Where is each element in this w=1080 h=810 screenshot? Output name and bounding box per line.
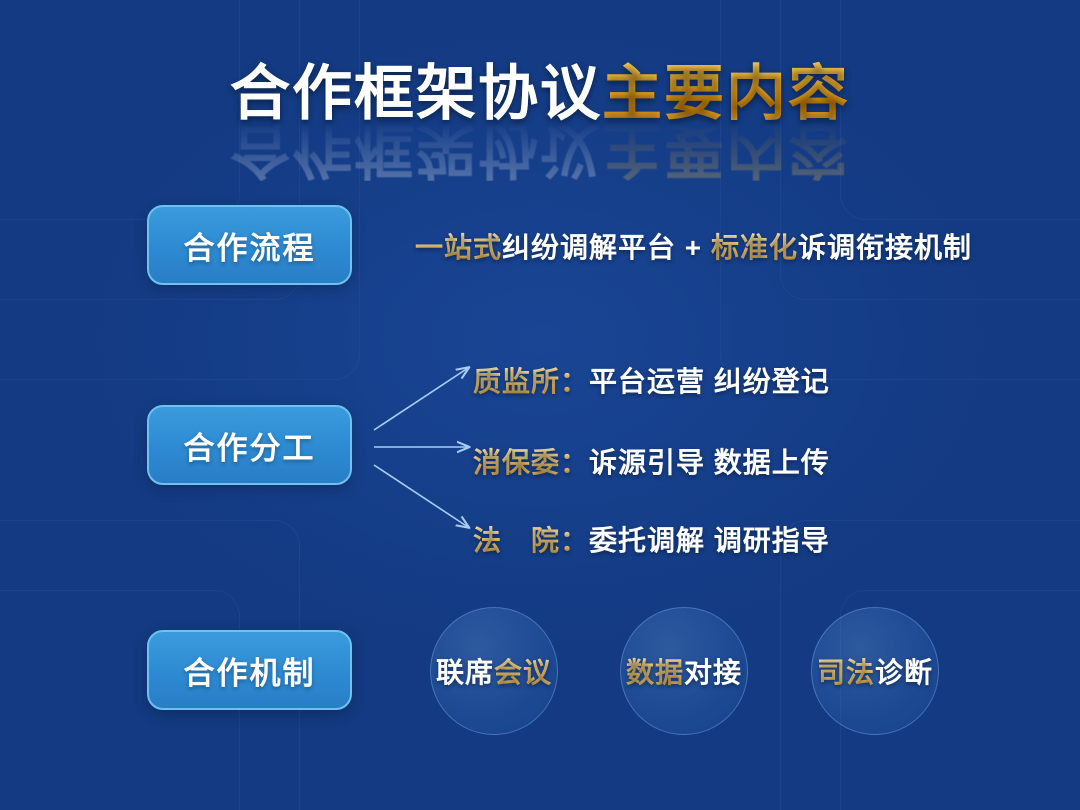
process-gold-2: 标准化 [711, 232, 798, 263]
mechanism-circle-gold-tail: 会议 [494, 651, 552, 691]
corner-decoration-top-left-3 [0, 0, 360, 380]
section-label-mechanism-text: 合作机制 [184, 648, 316, 693]
mechanism-circle[interactable]: 联席会议 [430, 607, 558, 735]
division-row: 消保委：诉源引导 数据上传 [473, 441, 830, 481]
division-arrows-group [360, 335, 490, 560]
division-duties: 平台运营 纠纷登记 [589, 366, 830, 397]
slide-canvas: 合作框架协议主要内容 合作框架协议主要内容 合作流程 一站式纠纷调解平台 + 标… [0, 0, 1080, 810]
page-title-gold: 主要内容 [602, 60, 850, 127]
section-label-mechanism[interactable]: 合作机制 [147, 630, 352, 710]
mechanism-circle-white: 对接 [684, 651, 742, 691]
mechanism-circle-white: 诊断 [875, 651, 933, 691]
division-actor: 法 院： [473, 525, 589, 556]
mechanism-circle-gold: 司法 [817, 651, 875, 691]
section-label-division[interactable]: 合作分工 [147, 405, 352, 485]
arrow-down-right-icon [374, 465, 468, 527]
process-gold-1: 一站式 [415, 232, 502, 263]
section-label-division-text: 合作分工 [184, 423, 316, 468]
division-actor: 质监所： [473, 366, 589, 397]
division-row: 法 院：委托调解 调研指导 [473, 519, 830, 559]
arrow-up-right-icon [374, 368, 468, 430]
corner-decoration-top-left-1 [0, 0, 240, 220]
corner-decoration-top-right-3 [720, 0, 1080, 380]
corner-decoration-top-right-1 [840, 0, 1080, 220]
division-actor: 消保委： [473, 447, 589, 478]
mechanism-circle[interactable]: 数据对接 [620, 607, 748, 735]
mechanism-circle[interactable]: 司法诊断 [811, 607, 939, 735]
process-plus: + [676, 232, 711, 263]
mechanism-circle-white: 联席 [436, 651, 494, 691]
page-title-reflection-gold: 主要内容 [602, 116, 850, 183]
page-title-reflection: 合作框架协议主要内容 [0, 118, 1080, 181]
section-label-process-text: 合作流程 [184, 223, 316, 268]
page-title-reflection-white: 合作框架协议 [230, 116, 602, 183]
page-title: 合作框架协议主要内容 [0, 62, 1080, 125]
division-duties: 委托调解 调研指导 [589, 525, 830, 556]
division-row: 质监所：平台运营 纠纷登记 [473, 360, 830, 400]
mechanism-circle-gold: 数据 [626, 651, 684, 691]
process-white-2: 诉调衔接机制 [798, 232, 972, 263]
page-title-white: 合作框架协议 [230, 60, 602, 127]
division-duties: 诉源引导 数据上传 [589, 447, 830, 478]
section-label-process[interactable]: 合作流程 [147, 205, 352, 285]
process-content: 一站式纠纷调解平台 + 标准化诉调衔接机制 [415, 226, 972, 266]
process-white-1: 纠纷调解平台 [502, 232, 676, 263]
